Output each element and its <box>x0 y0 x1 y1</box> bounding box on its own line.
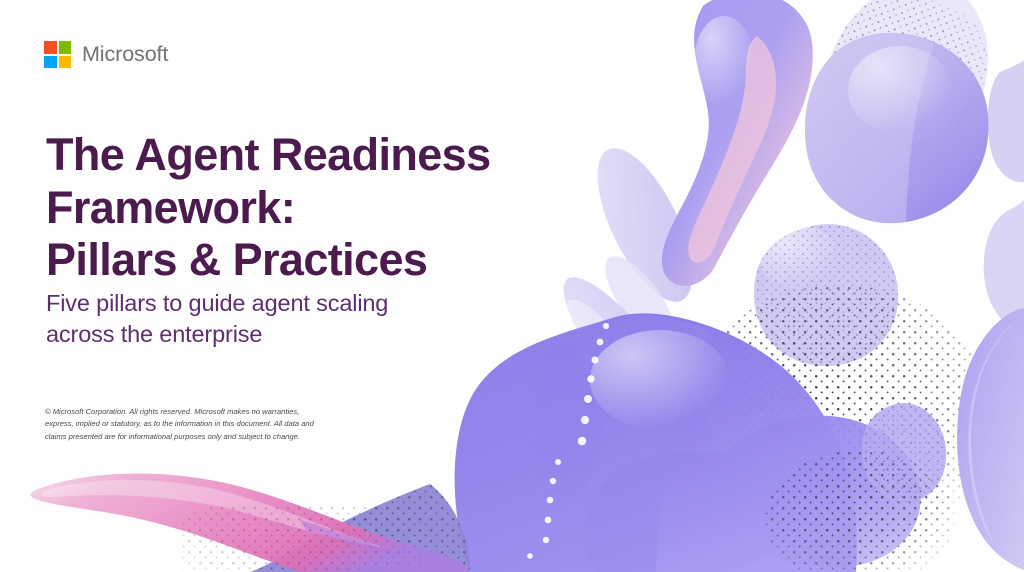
shape-pink-ribbon <box>31 474 471 572</box>
dot-texture-upper-mid <box>716 300 806 380</box>
shape-large-periwinkle-panel <box>455 313 857 572</box>
slide-subtitle: Five pillars to guide agent scaling acro… <box>46 288 516 351</box>
shape-right-stippled-cone <box>748 392 826 480</box>
title-line-3: Pillars & Practices <box>46 234 566 287</box>
title-line-2: Framework: <box>46 182 566 235</box>
microsoft-logo: Microsoft <box>44 41 168 68</box>
shape-right-lower-leaf <box>957 308 1024 570</box>
title-line-1: The Agent Readiness <box>46 129 566 182</box>
shape-violet-wedge <box>699 416 921 567</box>
legal-line-2: express, implied or statutory, as to the… <box>45 418 365 430</box>
logo-square-green <box>59 41 72 54</box>
legal-line-1: © Microsoft Corporation. All rights rese… <box>45 406 365 418</box>
subtitle-line-1: Five pillars to guide agent scaling <box>46 288 516 319</box>
dot-texture-lower-right <box>760 450 1010 572</box>
shape-top-leaf <box>662 0 813 286</box>
dot-texture-bottom-left <box>180 505 460 572</box>
shape-stippled-slate-panel <box>250 484 470 572</box>
logo-square-yellow <box>59 56 72 69</box>
shape-mid-right-cone <box>862 403 946 503</box>
shape-pale-sliver <box>593 246 686 354</box>
subtitle-line-2: across the enterprise <box>46 319 516 350</box>
logo-square-red <box>44 41 57 54</box>
microsoft-wordmark: Microsoft <box>82 42 168 67</box>
shape-right-edge-blob-mid <box>984 200 1024 330</box>
copyright-disclaimer: © Microsoft Corporation. All rights rese… <box>45 406 365 443</box>
shape-round-violet-blob <box>805 33 989 223</box>
shape-lavender-oval-a <box>526 337 614 462</box>
dot-texture-center <box>680 280 1010 560</box>
legal-line-3: claims presented are for informational p… <box>45 431 365 443</box>
microsoft-logo-mark <box>44 41 71 68</box>
shape-pale-ellipse <box>579 135 712 315</box>
dot-texture-top <box>791 0 1018 207</box>
shape-right-edge-blob-upper <box>988 60 1024 182</box>
shape-lavender-oval-b <box>528 402 599 502</box>
shape-long-pale-diagonal <box>544 261 737 484</box>
logo-square-blue <box>44 56 57 69</box>
beaded-edge <box>527 323 609 559</box>
shape-stippled-ellipse-top <box>791 0 1018 207</box>
shape-violet-wedge-2 <box>584 452 794 572</box>
slide-title: The Agent Readiness Framework: Pillars &… <box>46 129 566 287</box>
presentation-slide: Microsoft The Agent Readiness Framework:… <box>0 0 1024 572</box>
shape-stippled-sphere <box>754 224 898 366</box>
